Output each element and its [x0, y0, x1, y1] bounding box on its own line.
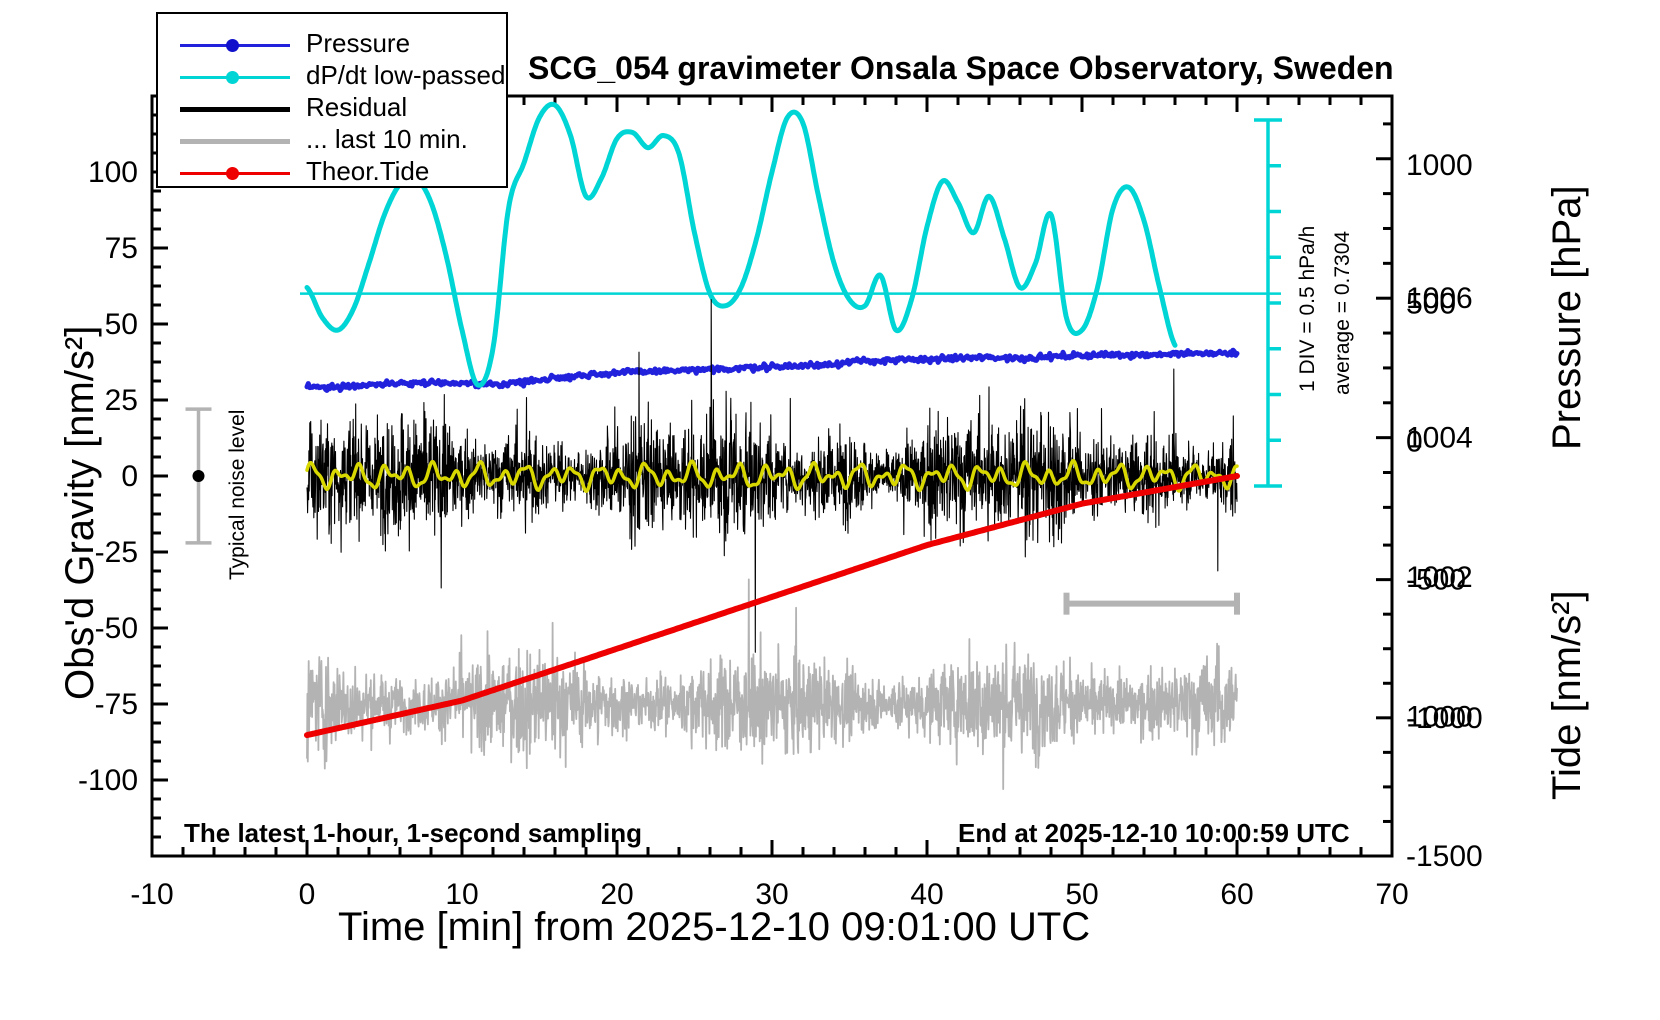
y-tide-tick-label: 0: [1406, 425, 1423, 458]
y-axis-pressure-title: Pressure [hPa]: [1545, 185, 1590, 450]
bottom-right-annotation: End at 2025-12-10 10:00:59 UTC: [958, 818, 1350, 849]
x-tick-label: 70: [1375, 878, 1408, 911]
legend-label-residual: Residual: [306, 92, 407, 123]
legend-label-pressure: Pressure: [306, 28, 410, 59]
legend-line-last10: [180, 139, 290, 144]
page-title: SCG_054 gravimeter Onsala Space Observat…: [528, 50, 1394, 87]
y-left-tick-label: 25: [105, 384, 138, 417]
y-left-tick-label: 100: [88, 156, 138, 189]
noise-center-dot: [193, 470, 205, 482]
x-axis-title: Time [min] from 2025-12-10 09:01:00 UTC: [338, 905, 1090, 950]
y-left-tick-label: 75: [105, 232, 138, 265]
x-tick-label: -10: [130, 878, 173, 911]
y-axis-left-title: Obs'd Gravity [nm/s²]: [58, 326, 103, 700]
legend-marker-pressure: [226, 39, 239, 52]
legend-item-last10[interactable]: ... last 10 min.: [158, 126, 506, 158]
x-tick-label: 60: [1220, 878, 1253, 911]
y-tide-tick-label: 1000: [1406, 149, 1473, 182]
legend-item-dpdt[interactable]: dP/dt low-passed: [158, 62, 506, 94]
y-axis-tide-title: Tide [nm/s²]: [1545, 590, 1590, 800]
legend-item-pressure[interactable]: Pressure: [158, 30, 506, 62]
y-tide-tick-label: -1000: [1406, 702, 1483, 735]
legend-item-residual[interactable]: Residual: [158, 94, 506, 126]
y-tide-tick-label: 500: [1406, 287, 1456, 320]
series-last-10-min: [307, 579, 1237, 789]
legend-item-tide[interactable]: Theor.Tide: [158, 158, 506, 190]
y-left-tick-label: -100: [78, 764, 138, 797]
div-scale-annotation: 1 DIV = 0.5 hPa/h: [1296, 226, 1320, 392]
noise-level-annotation: Typical noise level: [226, 410, 250, 580]
legend: Pressure dP/dt low-passed Residual ... l…: [156, 12, 508, 188]
y-tide-tick-label: -1500: [1406, 840, 1483, 873]
average-annotation: average = 0.7304: [1331, 231, 1355, 395]
series-pressure: [307, 350, 1237, 390]
legend-label-dpdt: dP/dt low-passed: [306, 60, 505, 91]
legend-label-last10: ... last 10 min.: [306, 124, 468, 155]
y-left-tick-label: 0: [121, 460, 138, 493]
gravimeter-plot-page: -100102030405060701007550250-25-50-75-10…: [0, 0, 1660, 1020]
y-tide-tick-label: -500: [1406, 564, 1466, 597]
legend-line-residual: [180, 107, 290, 112]
legend-marker-tide: [226, 167, 239, 180]
legend-label-tide: Theor.Tide: [306, 156, 429, 187]
legend-marker-dpdt: [226, 71, 239, 84]
y-left-tick-label: 50: [105, 308, 138, 341]
x-tick-label: 0: [299, 878, 316, 911]
bottom-left-annotation: The latest 1-hour, 1-second sampling: [184, 818, 642, 849]
